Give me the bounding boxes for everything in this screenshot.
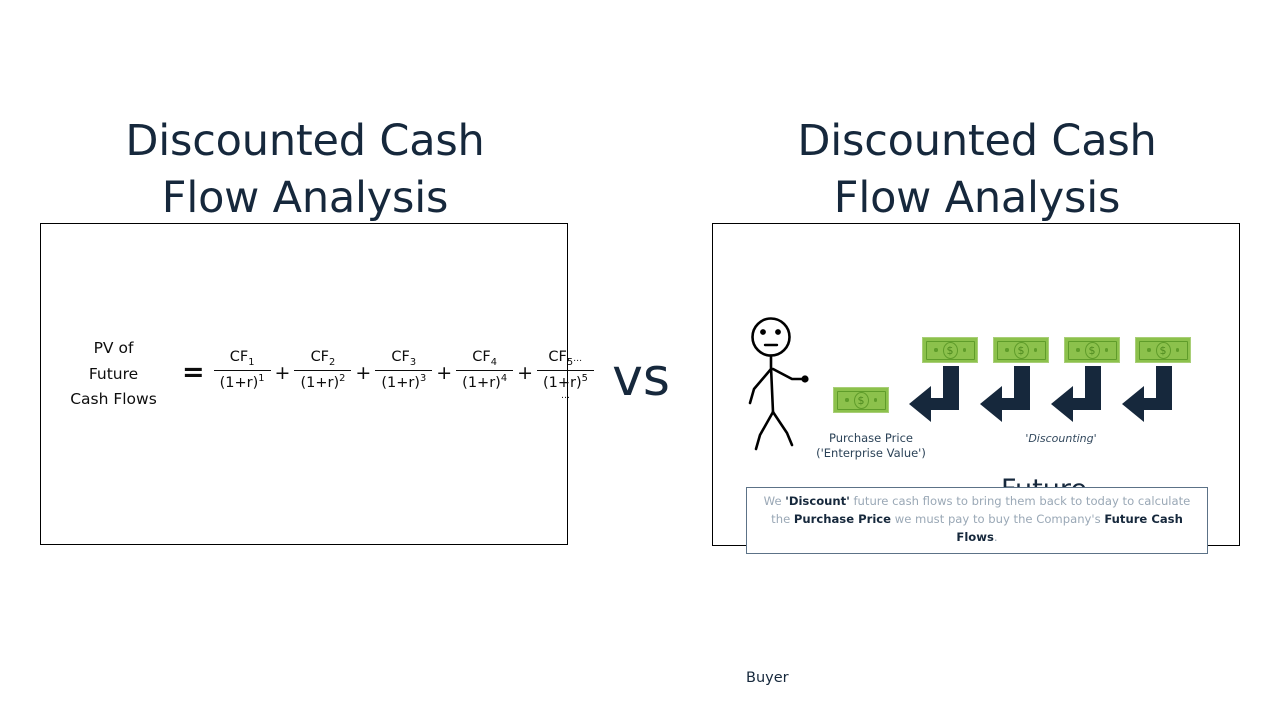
bill-future-3-icon: $ bbox=[1064, 337, 1120, 363]
fraction-term-3: CF3 (1+r)3 bbox=[374, 348, 433, 402]
numerator-5: CF5… bbox=[542, 348, 588, 370]
caption-box: We 'Discount' future cash flows to bring… bbox=[746, 487, 1208, 554]
discount-arrow-1-icon bbox=[909, 366, 971, 422]
dollar-sign: $ bbox=[1156, 342, 1171, 359]
numerator-2: CF2 bbox=[305, 348, 342, 370]
numerator-4: CF4 bbox=[466, 348, 503, 370]
formula-panel: PV of Future Cash Flows = CF1 (1+r)1 + C… bbox=[40, 223, 568, 545]
diagram-panel: Today Future Buyer bbox=[712, 223, 1240, 546]
left-panel-title: Discounted Cash Flow Analysis bbox=[40, 113, 570, 227]
term-tail-5: … bbox=[561, 393, 570, 401]
dollar-sign: $ bbox=[1014, 342, 1029, 359]
dollar-sign: $ bbox=[1085, 342, 1100, 359]
fraction-term-4: CF4 (1+r)4 bbox=[455, 348, 514, 402]
caption-part-3: we must pay to buy the Company's bbox=[891, 512, 1104, 526]
fraction-term-2: CF2 (1+r)2 bbox=[293, 348, 352, 402]
bill-future-1-icon: $ bbox=[922, 337, 978, 363]
plus-sign-4: + bbox=[514, 364, 536, 385]
discount-arrow-2-icon bbox=[980, 366, 1042, 422]
buyer-stick-figure-icon bbox=[740, 317, 822, 457]
caption-bold-discount: 'Discount' bbox=[785, 494, 850, 508]
versus-label: vs bbox=[586, 352, 696, 404]
pv-label: PV of Future Cash Flows bbox=[51, 336, 176, 413]
caption-bold-purchase-price: Purchase Price bbox=[794, 512, 891, 526]
plus-sign-3: + bbox=[433, 364, 455, 385]
dollar-sign: $ bbox=[943, 342, 958, 359]
bill-future-2-icon: $ bbox=[993, 337, 1049, 363]
denominator-1: (1+r)1 bbox=[214, 371, 271, 393]
caption-part-4: . bbox=[994, 530, 998, 544]
bill-today-icon: $ bbox=[833, 387, 889, 413]
denominator-4: (1+r)4 bbox=[456, 371, 513, 393]
equals-sign: = bbox=[176, 359, 213, 390]
numerator-3: CF3 bbox=[385, 348, 422, 370]
right-panel-title: Discounted Cash Flow Analysis bbox=[712, 113, 1242, 227]
caption-part-1: We bbox=[764, 494, 786, 508]
fraction-term-1: CF1 (1+r)1 bbox=[213, 348, 272, 402]
dcf-timeline-diagram: Today Future Buyer bbox=[713, 224, 1239, 545]
denominator-3: (1+r)3 bbox=[375, 371, 432, 393]
denominator-2: (1+r)2 bbox=[294, 371, 351, 393]
bill-future-4-icon: $ bbox=[1135, 337, 1191, 363]
dcf-formula: PV of Future Cash Flows = CF1 (1+r)1 + C… bbox=[51, 336, 599, 413]
discounting-label: 'Discounting' bbox=[1006, 432, 1116, 445]
purchase-price-label: Purchase Price ('Enterprise Value') bbox=[811, 431, 931, 460]
discount-arrow-3-icon bbox=[1051, 366, 1113, 422]
buyer-label: Buyer bbox=[746, 670, 789, 686]
discount-arrow-4-icon bbox=[1122, 366, 1184, 422]
dollar-sign: $ bbox=[854, 392, 869, 409]
plus-sign-1: + bbox=[272, 364, 294, 385]
plus-sign-2: + bbox=[352, 364, 374, 385]
numerator-1: CF1 bbox=[224, 348, 261, 370]
